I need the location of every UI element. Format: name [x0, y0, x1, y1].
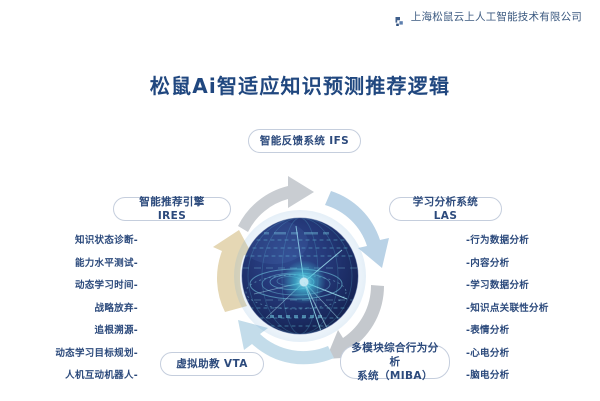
page-title: 松鼠Ai智适应知识预测推荐逻辑	[0, 70, 600, 99]
node-ires[interactable]: 智能推荐引擎 IRES	[113, 197, 231, 221]
left-feature-list: 知识状态诊断- 能力水平测试- 动态学习时间- 战略放弃- 追根溯源- 动态学习…	[0, 236, 150, 394]
list-item: 动态学习时间-	[75, 281, 150, 291]
list-item: 能力水平测试-	[75, 259, 150, 269]
node-miba[interactable]: 多模块综合行为分析 系统（MIBA）	[340, 345, 450, 379]
list-item: -学习数据分析	[466, 281, 529, 291]
node-miba-line2: 系统（MIBA）	[357, 370, 433, 382]
brand-header: 上海松鼠云上人工智能技术有限公司	[395, 12, 582, 23]
node-las[interactable]: 学习分析系统 LAS	[389, 197, 502, 221]
node-ifs[interactable]: 智能反馈系统 IFS	[248, 129, 361, 153]
list-item: -知识点关联性分析	[466, 304, 549, 314]
list-item: 知识状态诊断-	[75, 236, 150, 246]
list-item: 追根溯源-	[95, 326, 150, 336]
list-item: -脑电分析	[466, 371, 509, 381]
right-feature-list: -行为数据分析 -内容分析 -学习数据分析 -知识点关联性分析 -表情分析 -心…	[466, 236, 600, 394]
node-miba-line1: 多模块综合行为分析	[351, 342, 438, 368]
list-item: -内容分析	[466, 259, 509, 269]
list-item: -行为数据分析	[466, 236, 529, 246]
list-item: -心电分析	[466, 349, 509, 359]
slide-canvas: 上海松鼠云上人工智能技术有限公司 松鼠Ai智适应知识预测推荐逻辑	[0, 0, 600, 401]
list-item: 战略放弃-	[95, 304, 150, 314]
list-item: 动态学习目标规划-	[55, 349, 150, 359]
list-item: -表情分析	[466, 326, 509, 336]
node-vta[interactable]: 虚拟助教 VTA	[160, 352, 264, 376]
list-item: 人机互动机器人-	[65, 371, 150, 381]
squirrel-logo-mark-icon	[395, 12, 406, 23]
company-name: 上海松鼠云上人工智能技术有限公司	[411, 12, 582, 23]
